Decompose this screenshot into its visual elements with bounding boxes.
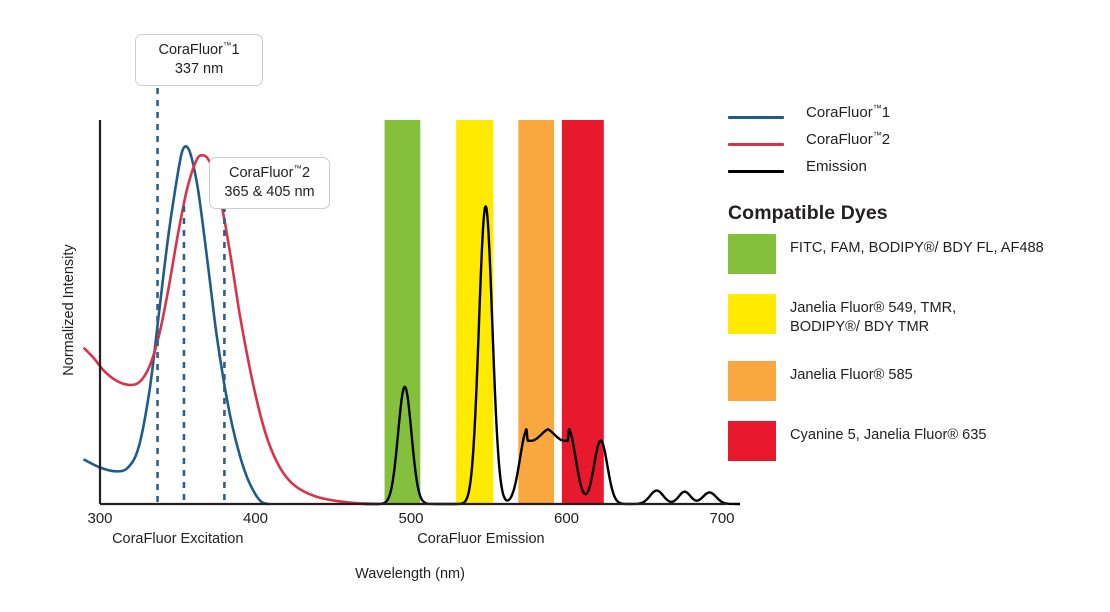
legend-label-3: Emission	[806, 158, 867, 175]
x-tick-700: 700	[692, 510, 752, 527]
line-swatch-red	[728, 143, 784, 146]
y-axis-label: Normalized Intensity	[61, 210, 77, 410]
dye-label-2: Janelia Fluor® 549, TMR,BODIPY®/ BDY TMR	[790, 299, 1100, 336]
legend-row-1: CoraFluor™1	[728, 104, 1110, 131]
emission-band-group	[385, 120, 604, 504]
dye-label-4: Cyanine 5, Janelia Fluor® 635	[790, 426, 1100, 445]
legend-row-2: CoraFluor™2	[728, 131, 1110, 158]
dye-swatch-4	[728, 421, 776, 461]
dye-label-line1: FITC, FAM, BODIPY®/ BDY FL, AF488	[790, 239, 1100, 258]
series-legend: CoraFluor™1CoraFluor™2Emission	[728, 104, 1110, 185]
callout-cf2-line1: CoraFluor™2	[221, 164, 318, 183]
dye-row-1: FITC, FAM, BODIPY®/ BDY FL, AF488	[728, 234, 1110, 285]
axis-section-emission: CoraFluor Emission	[371, 531, 591, 547]
x-axis-label: Wavelength (nm)	[290, 566, 530, 582]
callout-corafluor2: CoraFluor™2 365 & 405 nm	[209, 157, 330, 209]
green-band	[385, 120, 421, 504]
legend-panel: CoraFluor™1CoraFluor™2Emission Compatibl…	[728, 104, 1110, 472]
callout-cf2-line2: 365 & 405 nm	[221, 183, 318, 202]
dye-label-line2: BODIPY®/ BDY TMR	[790, 318, 1100, 337]
line-swatch-blue	[728, 116, 784, 119]
legend-label-2: CoraFluor™2	[806, 131, 890, 148]
x-tick-500: 500	[381, 510, 441, 527]
compatible-dyes-title: Compatible Dyes	[728, 202, 1110, 225]
yellow-band	[456, 120, 493, 504]
dye-label-1: FITC, FAM, BODIPY®/ BDY FL, AF488	[790, 239, 1100, 258]
callout-cf1-line1: CoraFluor™1	[147, 41, 251, 60]
orange-band	[518, 120, 554, 504]
dye-swatch-3	[728, 361, 776, 401]
dye-swatch-2	[728, 294, 776, 334]
chart-plot-area: CoraFluor™1 337 nm CoraFluor™2 365 & 405…	[0, 0, 740, 612]
callout-cf1-line2: 337 nm	[147, 60, 251, 79]
legend-row-3: Emission	[728, 158, 1110, 185]
x-tick-400: 400	[226, 510, 286, 527]
dye-row-4: Cyanine 5, Janelia Fluor® 635	[728, 421, 1110, 472]
line-swatch-black	[728, 170, 784, 173]
dye-label-3: Janelia Fluor® 585	[790, 366, 1100, 385]
x-tick-600: 600	[537, 510, 597, 527]
dye-label-line1: Janelia Fluor® 585	[790, 366, 1100, 385]
dye-row-3: Janelia Fluor® 585	[728, 361, 1110, 412]
spectra-figure: CoraFluor™1 337 nm CoraFluor™2 365 & 405…	[0, 0, 1110, 612]
compatible-dyes-list: FITC, FAM, BODIPY®/ BDY FL, AF488Janelia…	[728, 234, 1110, 472]
callout-corafluor1: CoraFluor™1 337 nm	[135, 34, 263, 86]
dye-row-2: Janelia Fluor® 549, TMR,BODIPY®/ BDY TMR	[728, 294, 1110, 352]
x-tick-300: 300	[70, 510, 130, 527]
axis-section-excitation: CoraFluor Excitation	[68, 531, 288, 547]
legend-label-1: CoraFluor™1	[806, 104, 890, 121]
dye-label-line1: Cyanine 5, Janelia Fluor® 635	[790, 426, 1100, 445]
dye-swatch-1	[728, 234, 776, 274]
dye-label-line1: Janelia Fluor® 549, TMR,	[790, 299, 1100, 318]
